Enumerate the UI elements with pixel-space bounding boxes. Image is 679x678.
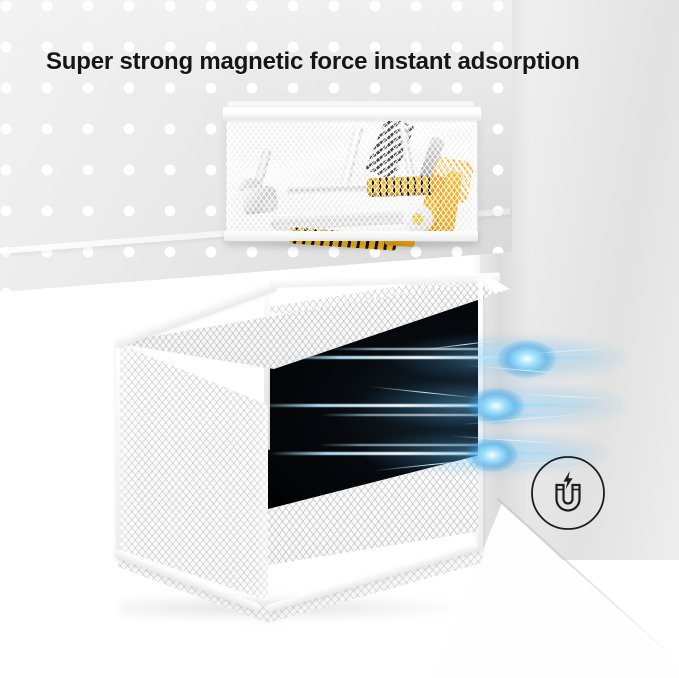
tool-screwdriver-shaft — [287, 184, 373, 195]
tool-basket-body — [226, 114, 478, 242]
magnetic-mesh-storage-basket — [100, 265, 520, 635]
magnet-icon-badge — [530, 455, 606, 531]
product-image-canvas: Super strong magnetic force instant adso… — [0, 0, 679, 678]
horseshoe-magnet-icon — [530, 455, 606, 531]
tool-basket-shadow — [238, 240, 468, 250]
tool-hammer-head — [241, 185, 278, 215]
page-title: Super strong magnetic force instant adso… — [46, 48, 580, 76]
main-basket-right-edge — [478, 281, 483, 553]
tool-pry-bar — [339, 125, 363, 189]
tool-wrench-hole — [412, 213, 424, 225]
tool-screwdriver-handle — [367, 176, 436, 197]
tool-basket-front-rim — [222, 106, 482, 121]
main-basket-left-edge — [116, 343, 120, 551]
wire-mesh-tool-basket — [222, 100, 480, 245]
